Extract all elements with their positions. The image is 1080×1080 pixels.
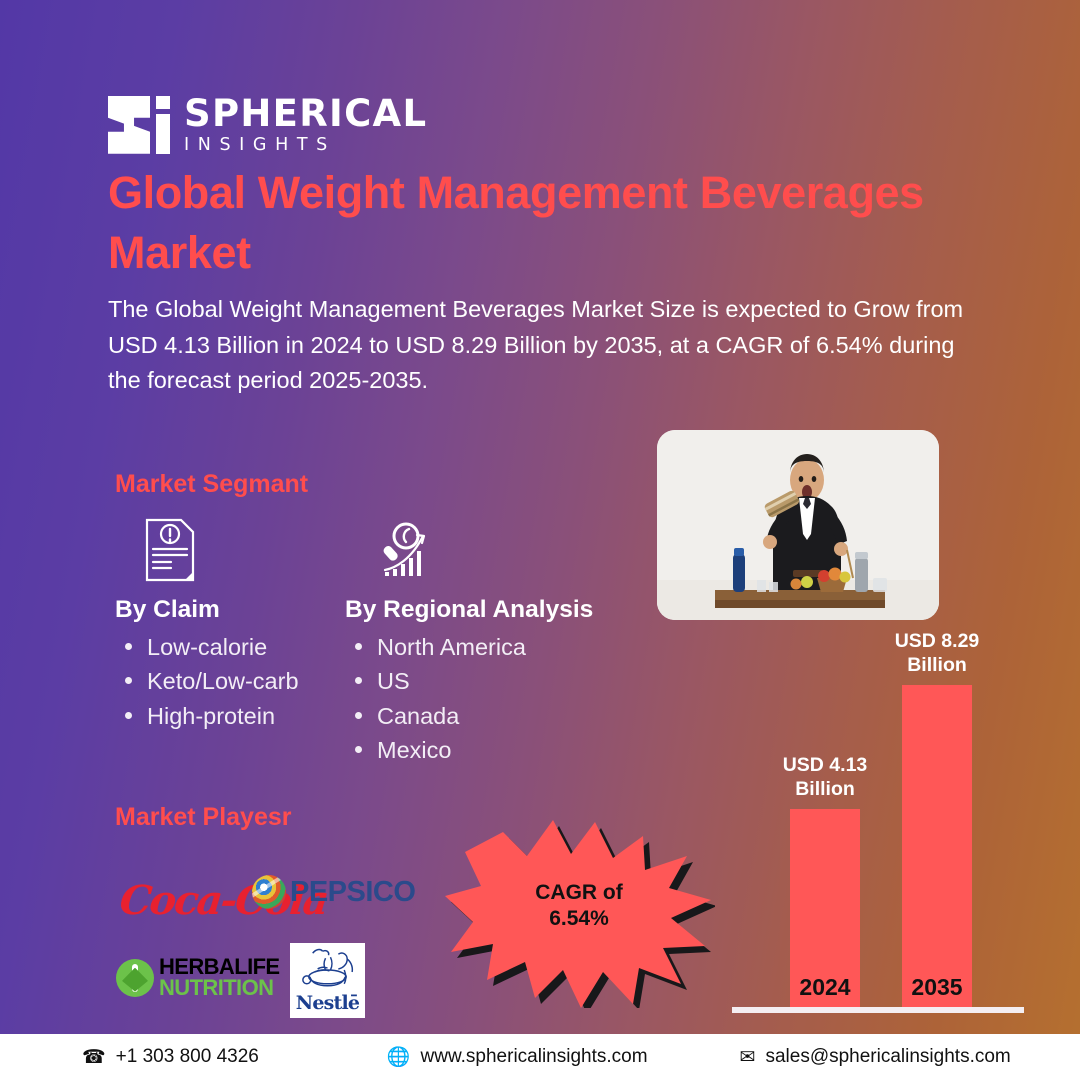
brand-name-secondary: INSIGHTS [184,137,427,155]
bar-value-label-2024: USD 4.13 Billion [755,754,895,802]
footer-email[interactable]: ✉ sales@sphericalinsights.com [740,1046,1011,1068]
brand-logo: SPHERICAL INSIGHTS [108,95,427,155]
list-item: High-protein [115,699,345,733]
nutrition-wordmark: NUTRITION [159,978,280,999]
bar-category-label-2035: 2035 [902,974,972,1001]
list-item: Low-calorie [115,630,345,664]
spherical-insights-mark-icon [108,96,170,154]
list-item: Mexico [345,733,645,767]
globe-icon: 🌐 [387,1048,411,1067]
footer-website[interactable]: 🌐 www.sphericalinsights.com [387,1046,648,1068]
market-size-bar-chart: USD 4.13 Billion USD 8.29 Billion 2024 2… [730,625,1030,1030]
herbalife-nutrition-logo: HERBALIFE NUTRITION [116,957,280,998]
list-item: Keto/Low-carb [115,664,345,698]
market-players-heading: Market Playesr [115,803,292,832]
pepsico-logo: PEPSICO [252,875,415,909]
segment-title: By Regional Analysis [345,596,645,624]
brand-name-primary: SPHERICAL [184,95,427,132]
page-title: Global Weight Management Beverages Marke… [108,163,998,283]
envelope-icon: ✉ [740,1048,756,1067]
contact-footer: ☎ +1 303 800 4326 🌐 www.sphericalinsight… [0,1034,1080,1080]
brand-logo-text: SPHERICAL INSIGHTS [184,95,427,155]
list-item: Canada [345,699,645,733]
cagr-badge-text: CAGR of 6.54% [443,880,715,933]
chart-baseline [732,1007,1024,1013]
segment-column-by-regional-analysis: By Regional Analysis North America US Ca… [345,512,645,767]
nestle-logo: Nestlē [290,943,365,1018]
bar-value-label-2035: USD 8.29 Billion [867,630,1007,678]
hero-image [657,430,939,620]
pepsico-globe-icon [248,871,291,914]
bar-2035 [902,685,972,1007]
market-segment-heading: Market Segmant [115,470,308,499]
segment-title: By Claim [115,596,345,624]
market-players-logos: Coca-Cola PEPSICO HERBALIFE NUTRITION [112,865,412,1020]
list-item: US [345,664,645,698]
telephone-icon: ☎ [82,1048,106,1067]
footer-phone[interactable]: ☎ +1 303 800 4326 [82,1046,259,1068]
footer-email-text: sales@sphericalinsights.com [765,1046,1010,1068]
page-description: The Global Weight Management Beverages M… [108,292,978,399]
segment-column-by-claim: By Claim Low-calorie Keto/Low-carb High-… [115,512,345,733]
document-alert-icon [143,512,345,582]
nestle-wordmark: Nestlē [293,994,362,1013]
footer-phone-text: +1 303 800 4326 [116,1046,259,1068]
magnifier-chart-icon [373,512,645,582]
list-item: North America [345,630,645,664]
nestle-nest-birds-icon [293,946,362,992]
bar-category-label-2024: 2024 [790,974,860,1001]
cagr-badge: CAGR of 6.54% [443,812,715,1008]
segment-list-by-claim: Low-calorie Keto/Low-carb High-protein [115,630,345,733]
infographic-poster: SPHERICAL INSIGHTS Global Weight Managem… [0,0,1080,1080]
segment-list-by-regional-analysis: North America US Canada Mexico [345,630,645,767]
pepsico-wordmark: PEPSICO [290,876,415,909]
footer-website-text: www.sphericalinsights.com [421,1046,648,1068]
herbalife-leaf-icon [116,959,154,997]
